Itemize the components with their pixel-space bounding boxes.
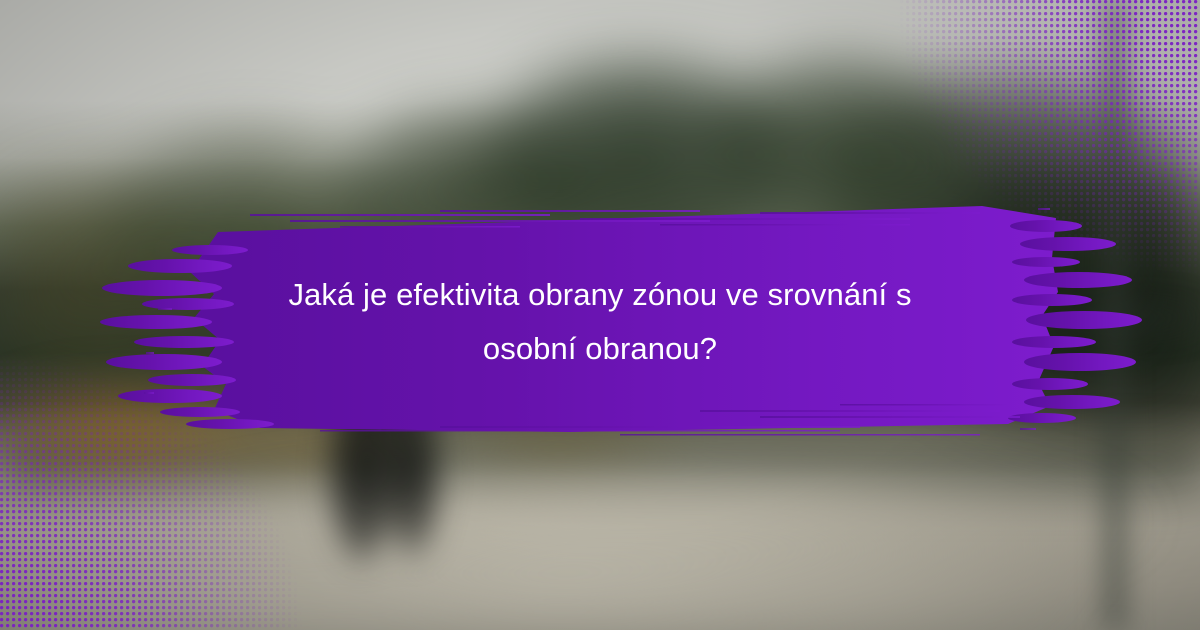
screenshot-canvas: Jaká je efektivita obrany zónou ve srovn… [0, 0, 1200, 630]
headline-text: Jaká je efektivita obrany zónou ve srovn… [200, 268, 1000, 376]
